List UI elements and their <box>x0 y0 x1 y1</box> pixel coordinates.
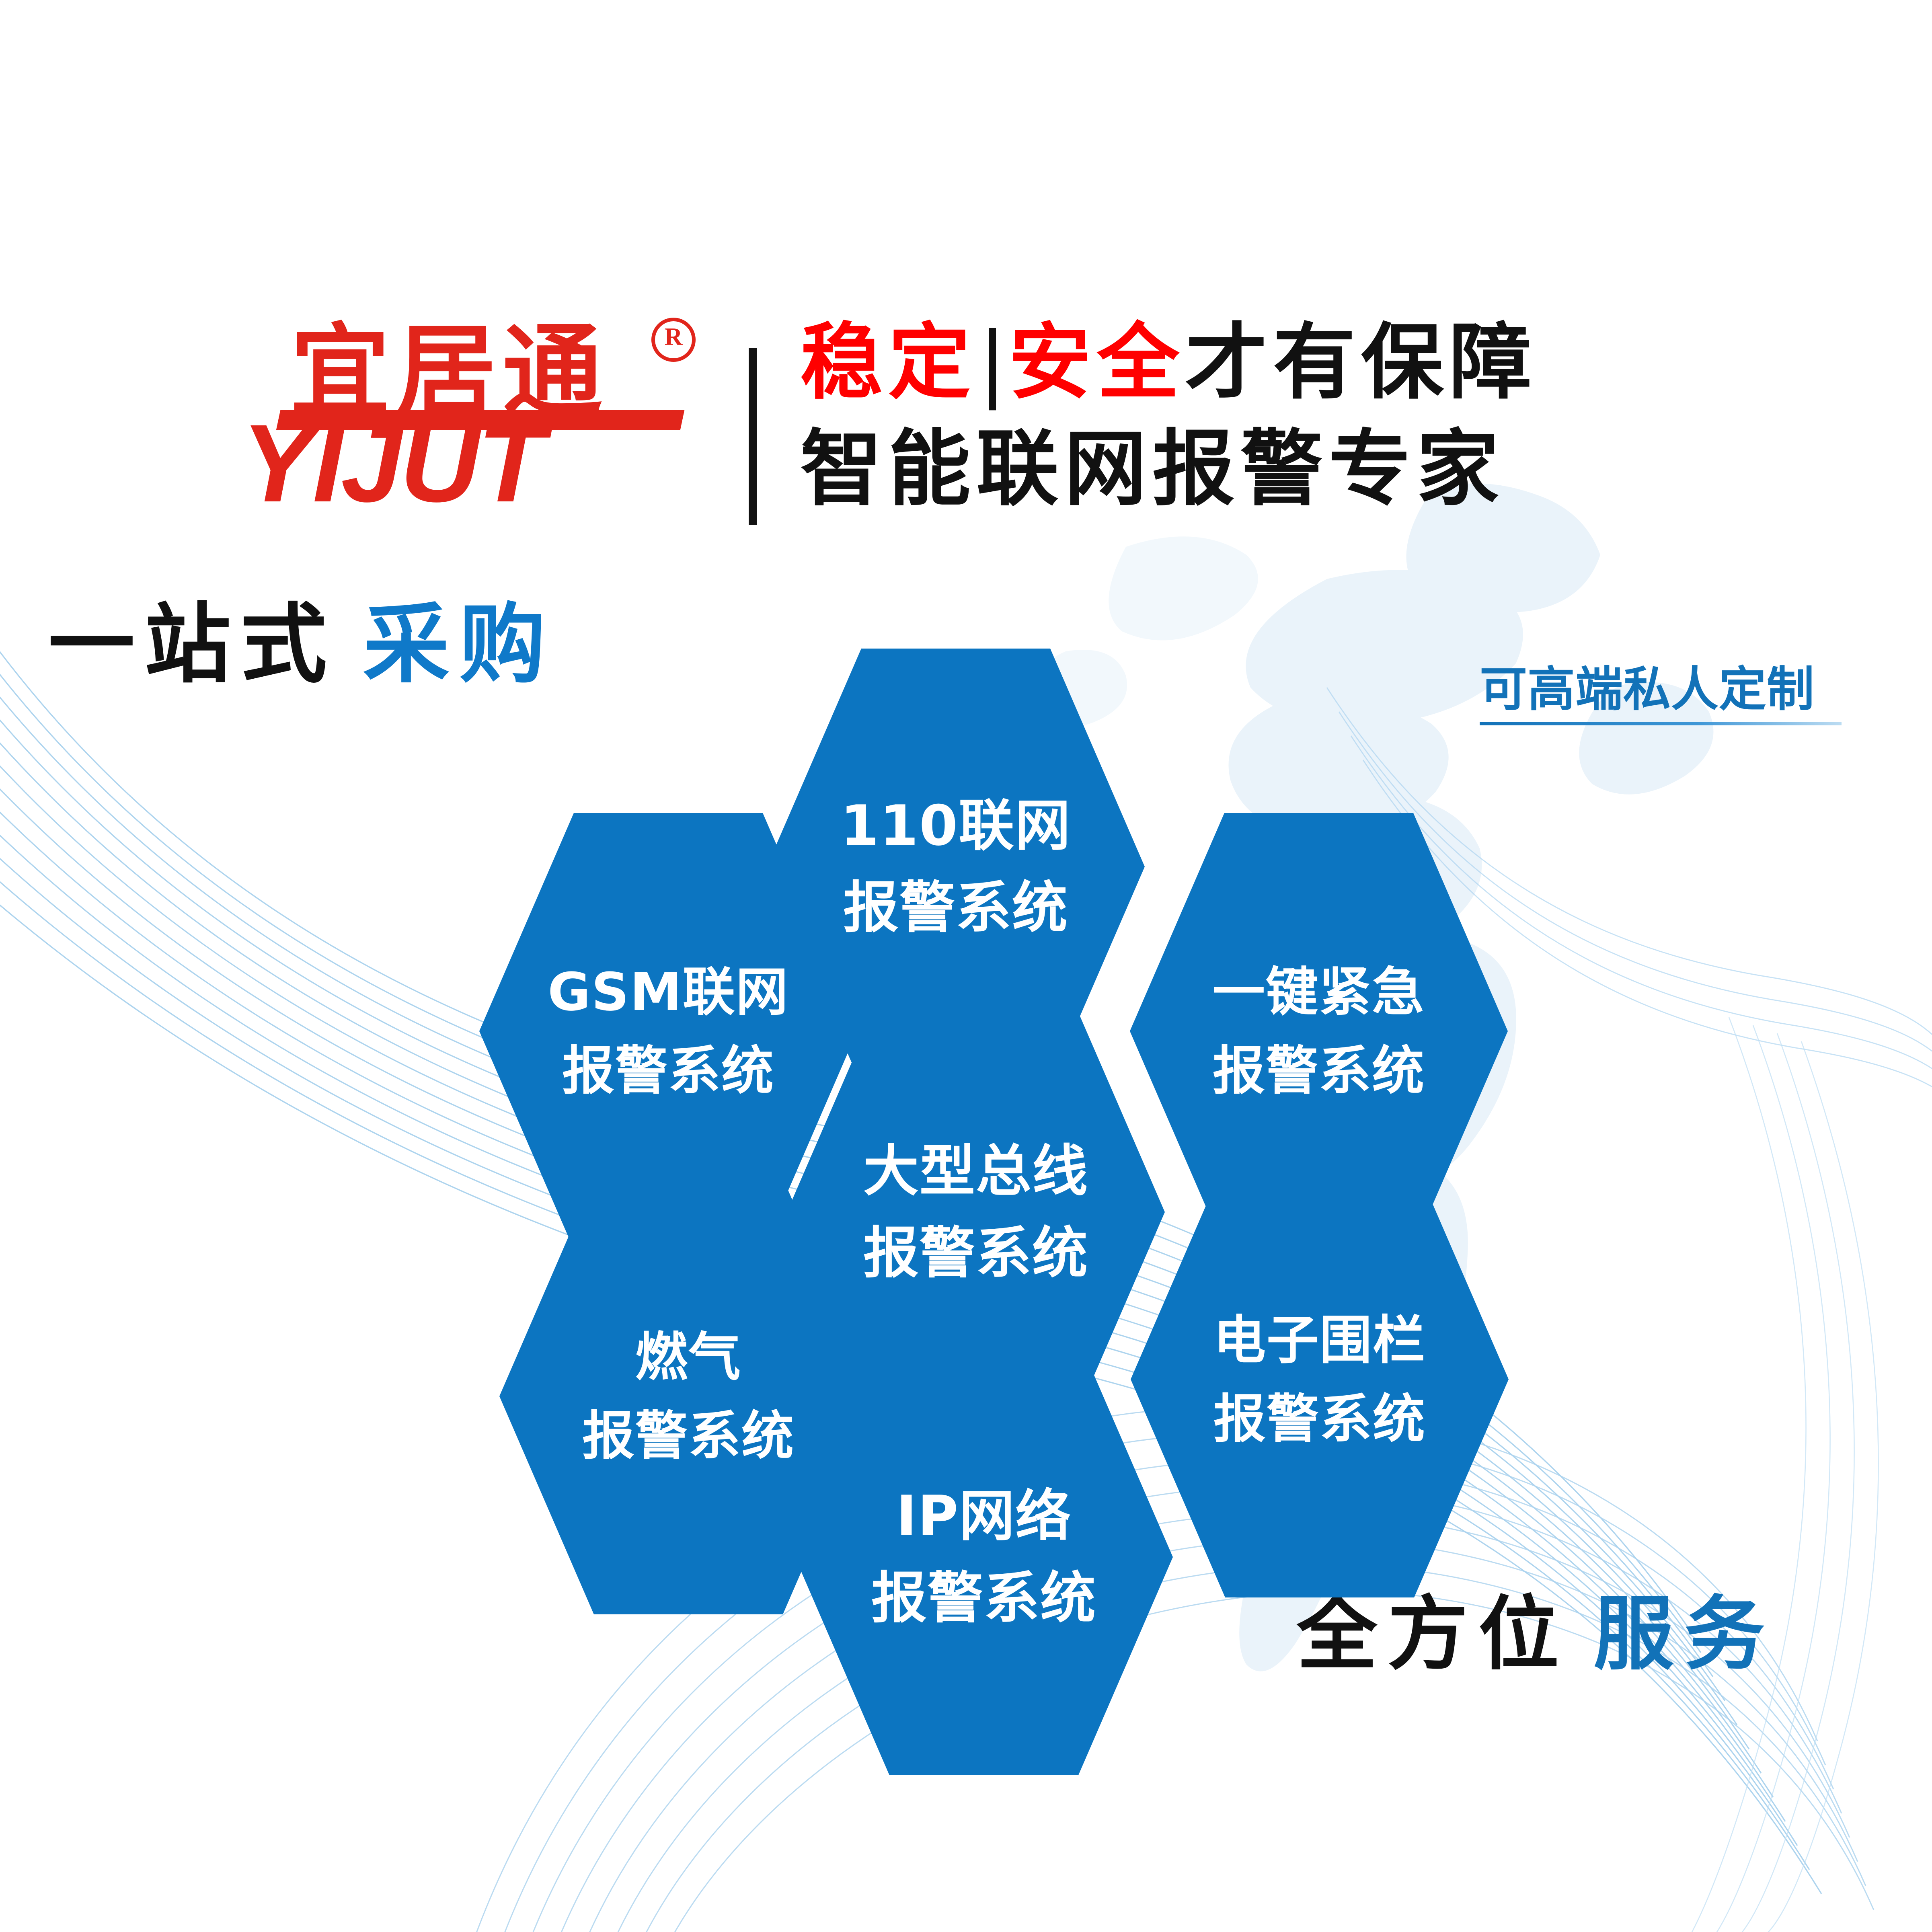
poster-canvas: 宜居通 R YIJUT 稳定|安全才有保障 智能联网报警专家 一站式采购 可高端… <box>0 0 1932 1932</box>
hex-one-key-emergency-line2: 报警系统 <box>1213 1045 1425 1097</box>
hex-ip-network-line2: 报警系统 <box>871 1571 1096 1626</box>
hex-large-bus-line2: 报警系统 <box>863 1226 1088 1281</box>
hex-gas-line2: 报警系统 <box>582 1410 795 1462</box>
hex-ip-network-line1: IP网络 <box>896 1489 1072 1544</box>
hex-one-key-emergency-line1: 一键紧急 <box>1213 966 1425 1018</box>
hex-gsm-network-line1: GSM联网 <box>548 966 789 1018</box>
hex-electronic-fence[interactable]: 电子围栏 报警系统 <box>1131 1161 1509 1597</box>
hex-large-bus-line1: 大型总线 <box>863 1144 1088 1199</box>
product-hex-grid: 110联网 报警系统 GSM联网 报警系统 一键紧急 报警系统 大型总线 报警系… <box>0 0 1932 1932</box>
hex-gas-line1: 燃气 <box>635 1331 741 1383</box>
hex-electronic-fence-line2: 报警系统 <box>1213 1393 1426 1445</box>
hex-electronic-fence-line1: 电子围栏 <box>1213 1314 1426 1366</box>
hex-110-network-line2: 报警系统 <box>843 880 1068 936</box>
hex-gsm-network-line2: 报警系统 <box>562 1045 774 1097</box>
hex-110-network-line1: 110联网 <box>840 798 1071 854</box>
